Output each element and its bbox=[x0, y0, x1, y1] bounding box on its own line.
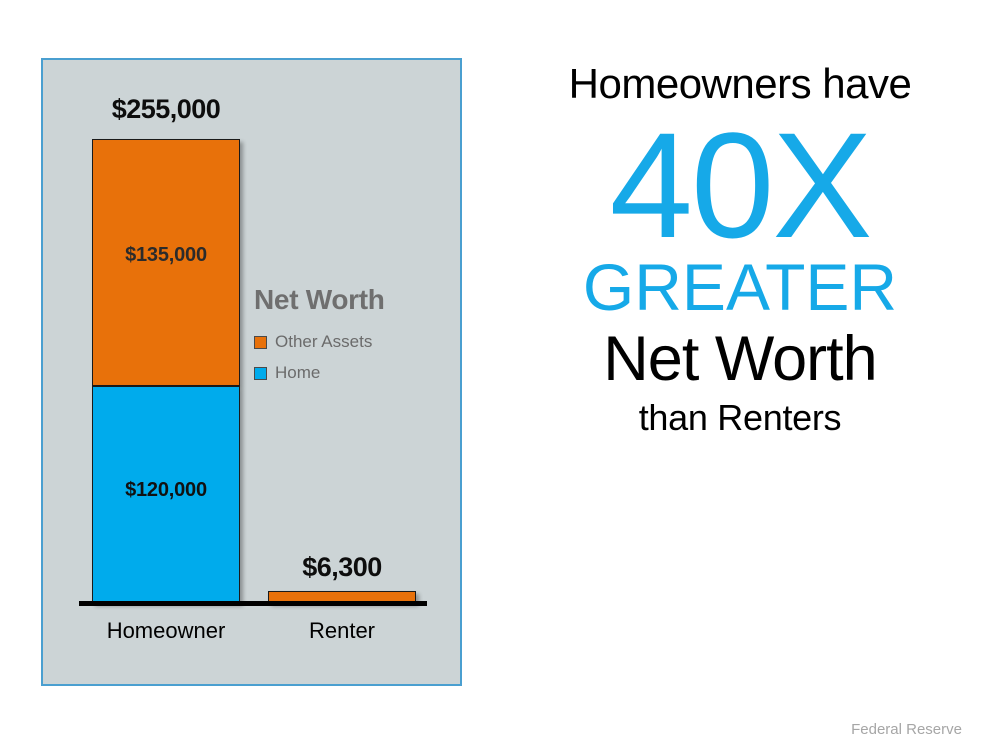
legend-swatch-home-icon bbox=[254, 367, 267, 380]
headline-than-renters: than Renters bbox=[490, 398, 990, 438]
chart-legend: Net Worth Other Assets Home bbox=[254, 284, 444, 394]
source-attribution: Federal Reserve bbox=[851, 721, 962, 738]
homeowner-total-value-label: $255,000 bbox=[92, 94, 240, 125]
headline-multiplier-40x: 40X bbox=[490, 110, 990, 260]
legend-item-other-assets: Other Assets bbox=[254, 332, 444, 352]
headline-net-worth: Net Worth bbox=[490, 326, 990, 392]
net-worth-chart-panel: $255,000 $6,300 $135,000 $120,000 Homeow… bbox=[41, 58, 462, 686]
legend-label-other-assets: Other Assets bbox=[275, 332, 372, 352]
plot-area: $255,000 $6,300 $135,000 $120,000 Homeow… bbox=[43, 60, 460, 684]
headline-greater: GREATER bbox=[490, 254, 990, 320]
bar-segment-homeowner-other-assets: $135,000 bbox=[92, 139, 240, 386]
legend-label-home: Home bbox=[275, 363, 320, 383]
homeowner-home-value-label: $120,000 bbox=[93, 479, 239, 502]
axis-baseline bbox=[79, 601, 427, 606]
category-label-homeowner: Homeowner bbox=[92, 618, 240, 644]
category-label-renter: Renter bbox=[268, 618, 416, 644]
homeowner-other-assets-value-label: $135,000 bbox=[93, 244, 239, 267]
legend-title: Net Worth bbox=[254, 284, 444, 316]
bar-segment-homeowner-home: $120,000 bbox=[92, 386, 240, 603]
legend-swatch-other-assets-icon bbox=[254, 336, 267, 349]
bar-homeowner: $135,000 $120,000 bbox=[92, 139, 240, 603]
headline-line-homeowners-have: Homeowners have bbox=[490, 62, 990, 106]
headline-message-panel: Homeowners have 40X GREATER Net Worth th… bbox=[490, 62, 990, 438]
legend-item-home: Home bbox=[254, 363, 444, 383]
renter-total-value-label: $6,300 bbox=[268, 552, 416, 583]
